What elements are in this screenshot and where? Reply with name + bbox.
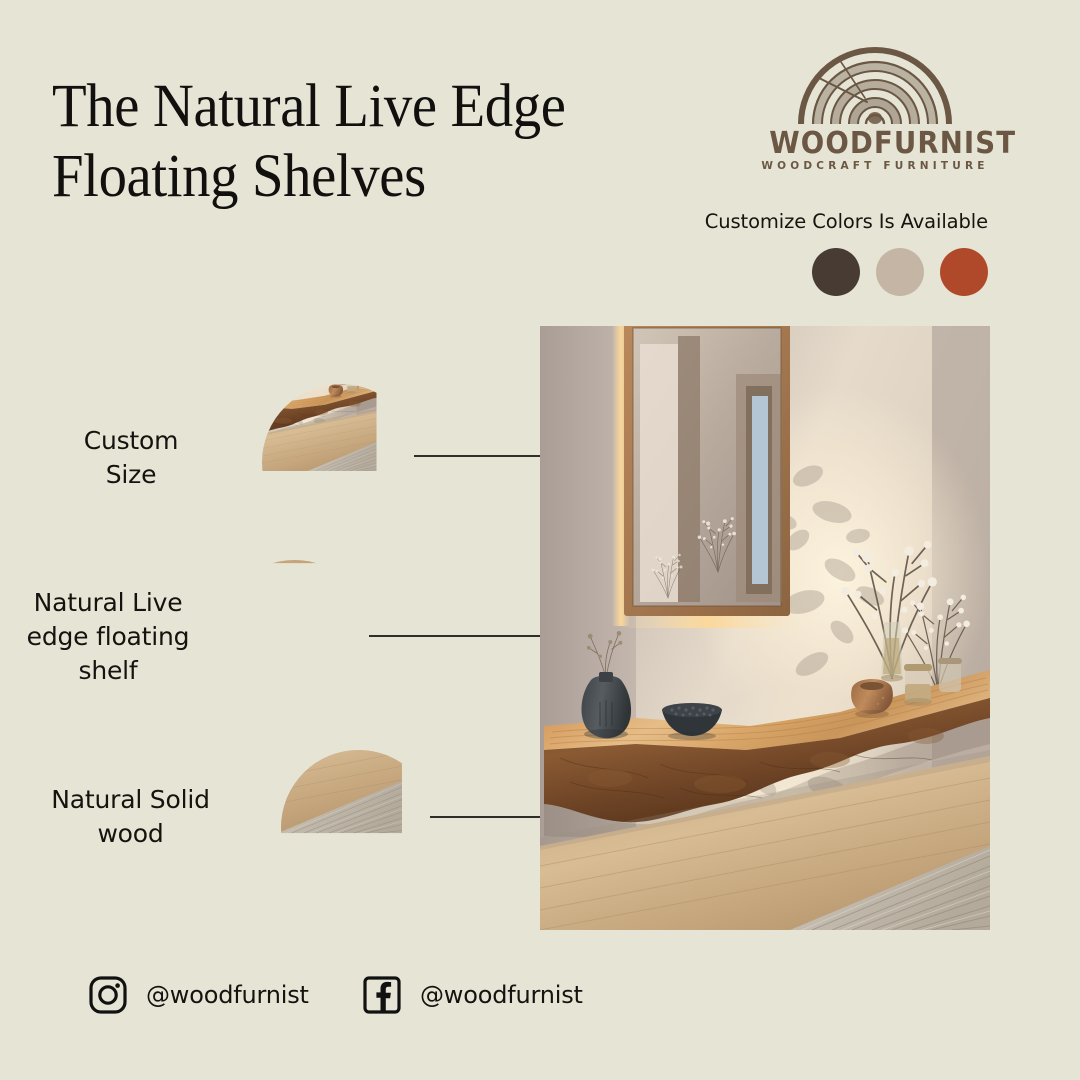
feature-thumbnail-custom-size[interactable] [262,384,419,541]
logo-brand-text: WOODFURNIST [769,126,981,161]
feature-label-solid-wood: Natural Solid wood [28,783,233,851]
facebook-handle: @woodfurnist [420,981,583,1009]
brand-logo: WOODFURNIST WOODCRAFT FURNITURE [760,38,990,193]
feature-label-live-edge-shelf: Natural Live edge floating shelf [8,586,208,688]
feature-label-custom-size: Custom Size [36,424,226,492]
feature-thumbnail-solid-wood[interactable] [281,750,436,905]
feature-thumbnail-live-edge-shelf[interactable] [216,560,373,717]
social-facebook[interactable]: @woodfurnist [362,975,583,1015]
page-title: The Natural Live Edge Floating Shelves [52,72,666,212]
color-swatch-terracotta[interactable] [940,248,988,296]
facebook-icon [362,975,402,1015]
social-instagram[interactable]: @woodfurnist [88,975,309,1015]
product-photo [540,326,990,930]
color-swatch-row [812,248,988,296]
instagram-handle: @woodfurnist [146,981,309,1009]
color-swatch-dark-walnut[interactable] [812,248,860,296]
instagram-icon [88,975,128,1015]
customize-colors-caption: Customize Colors Is Available [705,210,988,233]
logo-tagline-text: WOODCRAFT FURNITURE [760,160,990,172]
color-swatch-light-taupe[interactable] [876,248,924,296]
poster-canvas: The Natural Live Edge Floating Shelves [0,0,1080,1080]
tree-ring-arch-icon [795,38,955,124]
